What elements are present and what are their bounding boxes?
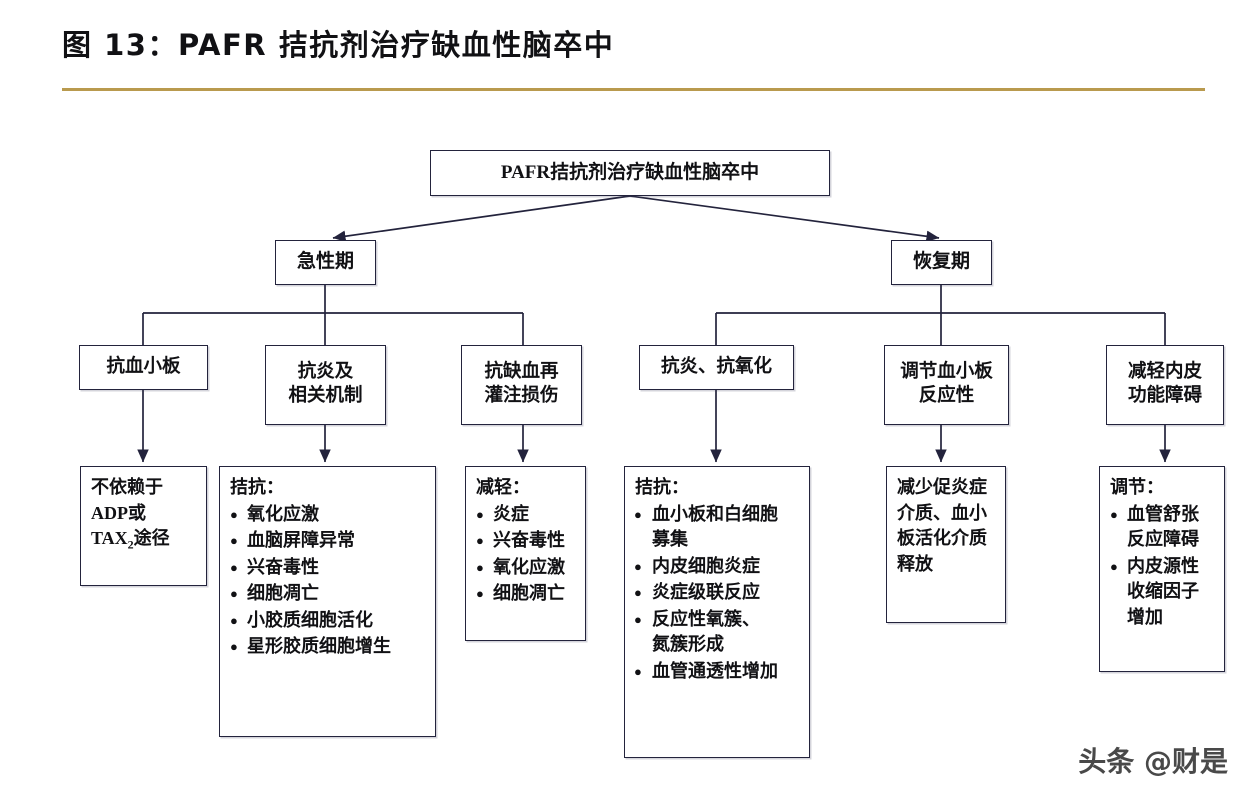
leaf-antiplatelet[interactable]: 不依赖于 ADP或 TAX2途径 (80, 466, 207, 586)
leaf-anti-reperfusion-injury-head: 减轻： (476, 475, 579, 501)
node-root-label: PAFR拮抗剂治疗缺血性脑卒中 (431, 161, 829, 185)
leaf-anti-inflam-antioxidant-head: 拮抗： (635, 475, 803, 501)
list-item: 小胶质细胞活化 (230, 608, 429, 634)
list-item: 血脑屏障异常 (230, 528, 429, 554)
node-endothelial-dysfunction-label: 减轻内皮 功能障碍 (1107, 361, 1223, 408)
watermark: 头条 @财是 (1078, 740, 1228, 780)
leaf-antiplatelet-tax: TAX (91, 528, 128, 548)
list-item: 炎症 (476, 502, 579, 528)
edge-root-recovery (630, 196, 939, 238)
edge-root-acute (333, 196, 630, 238)
list-item: 氧化应激 (476, 555, 579, 581)
node-anti-reperfusion-injury[interactable]: 抗缺血再 灌注损伤 (461, 345, 582, 425)
page-title: 图 13：PAFR 拮抗剂治疗缺血性脑卒中 (62, 22, 614, 64)
leaf-platelet-reactivity-line-2: 介质、血小 (897, 501, 999, 527)
leaf-platelet-reactivity-line-3: 板活化介质 (897, 526, 999, 552)
list-item: 星形胶质细胞增生 (230, 634, 429, 660)
node-acute-phase[interactable]: 急性期 (275, 240, 376, 285)
leaf-anti-reperfusion-injury[interactable]: 减轻： 炎症 兴奋毒性 氧化应激 细胞凋亡 (465, 466, 586, 641)
list-item: 细胞凋亡 (476, 581, 579, 607)
leaf-anti-inflam-antioxidant[interactable]: 拮抗： 血小板和白细胞 募集 内皮细胞炎症 炎症级联反应 反应性氧簇、 氮簇形成… (624, 466, 810, 758)
figure-root: 图 13：PAFR 拮抗剂治疗缺血性脑卒中 (0, 0, 1256, 802)
list-item: 内皮源性 收缩因子 增加 (1110, 554, 1218, 631)
leaf-anti-reperfusion-injury-list: 炎症 兴奋毒性 氧化应激 细胞凋亡 (476, 502, 579, 607)
leaf-endothelial-dysfunction[interactable]: 调节： 血管舒张 反应障碍 内皮源性 收缩因子 增加 (1099, 466, 1225, 672)
node-recovery-phase-label: 恢复期 (892, 250, 991, 274)
leaf-anti-inflammation[interactable]: 拮抗： 氧化应激 血脑屏障异常 兴奋毒性 细胞凋亡 小胶质细胞活化 星形胶质细胞… (219, 466, 436, 737)
node-platelet-reactivity-label: 调节血小板 反应性 (885, 361, 1008, 408)
node-anti-inflammation-label: 抗炎及 相关机制 (266, 361, 385, 408)
leaf-antiplatelet-pathway: 途径 (134, 528, 170, 548)
leaf-antiplatelet-line-2: ADP或 (91, 501, 200, 527)
node-anti-reperfusion-injury-label: 抗缺血再 灌注损伤 (462, 361, 581, 408)
leaf-endothelial-dysfunction-list: 血管舒张 反应障碍 内皮源性 收缩因子 增加 (1110, 502, 1218, 631)
node-root[interactable]: PAFR拮抗剂治疗缺血性脑卒中 (430, 150, 830, 196)
list-item: 血管舒张 反应障碍 (1110, 502, 1218, 553)
node-recovery-phase[interactable]: 恢复期 (891, 240, 992, 285)
node-anti-inflammation[interactable]: 抗炎及 相关机制 (265, 345, 386, 425)
node-anti-inflam-antioxidant[interactable]: 抗炎、抗氧化 (639, 345, 794, 390)
leaf-platelet-reactivity-line-1: 减少促炎症 (897, 475, 999, 501)
node-platelet-reactivity[interactable]: 调节血小板 反应性 (884, 345, 1009, 425)
list-item: 兴奋毒性 (230, 555, 429, 581)
leaf-endothelial-dysfunction-head: 调节： (1110, 475, 1218, 501)
list-item: 兴奋毒性 (476, 528, 579, 554)
node-anti-inflam-antioxidant-label: 抗炎、抗氧化 (640, 356, 793, 380)
list-item: 血小板和白细胞 募集 (635, 502, 803, 553)
leaf-platelet-reactivity-line-4: 释放 (897, 552, 999, 578)
leaf-antiplatelet-line-1: 不依赖于 (91, 475, 200, 501)
leaf-anti-inflam-antioxidant-list: 血小板和白细胞 募集 内皮细胞炎症 炎症级联反应 反应性氧簇、 氮簇形成 血管通… (635, 502, 803, 685)
list-item: 血管通透性增加 (635, 659, 803, 685)
node-acute-phase-label: 急性期 (276, 250, 375, 274)
list-item: 反应性氧簇、 氮簇形成 (635, 607, 803, 658)
node-antiplatelet[interactable]: 抗血小板 (79, 345, 208, 390)
node-endothelial-dysfunction[interactable]: 减轻内皮 功能障碍 (1106, 345, 1224, 425)
figure-title-block: 图 13：PAFR 拮抗剂治疗缺血性脑卒中 (0, 0, 1256, 100)
title-underline-rule (62, 88, 1205, 91)
list-item: 细胞凋亡 (230, 581, 429, 607)
leaf-anti-inflammation-list: 氧化应激 血脑屏障异常 兴奋毒性 细胞凋亡 小胶质细胞活化 星形胶质细胞增生 (230, 502, 429, 660)
list-item: 炎症级联反应 (635, 580, 803, 606)
list-item: 内皮细胞炎症 (635, 554, 803, 580)
node-antiplatelet-label: 抗血小板 (80, 356, 207, 380)
leaf-anti-inflammation-head: 拮抗： (230, 475, 429, 501)
list-item: 氧化应激 (230, 502, 429, 528)
leaf-platelet-reactivity[interactable]: 减少促炎症 介质、血小 板活化介质 释放 (886, 466, 1006, 623)
leaf-antiplatelet-line-3: TAX2途径 (91, 526, 200, 554)
